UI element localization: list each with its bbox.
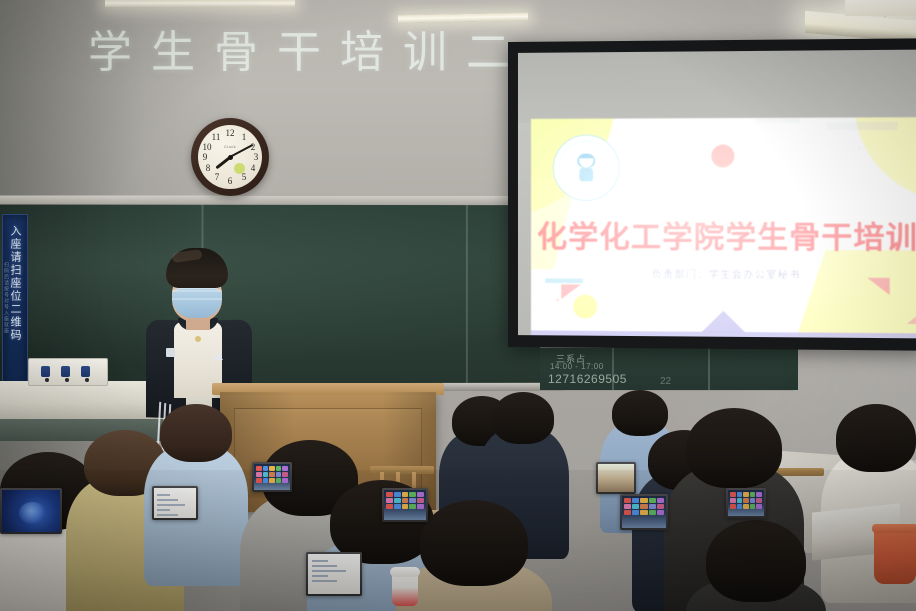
presenter-necklace <box>195 336 201 342</box>
foreground-shadow <box>0 470 916 611</box>
clock-numeral: 9 <box>199 153 211 162</box>
clock-numeral: 1 <box>238 133 250 142</box>
slide-title: 化学化工学院学生骨干培训二 <box>537 212 916 258</box>
seat-qr-banner-subtext: 扫码后请按号对号入座就座 <box>3 262 10 334</box>
logo-mascot-face <box>579 158 593 167</box>
slide-subtitle: 负责部门：学生会办公室秘书 <box>531 265 916 282</box>
slide-shape-plus: + <box>555 296 560 305</box>
slide-shape-pink-triangle <box>561 284 581 299</box>
slide-shape-red-dot <box>711 144 735 167</box>
control-indicator <box>85 378 89 382</box>
projection-screen-surface: + + + 化学化工学院学生骨干培训二 负责部门：学生会办公室秘书 <box>518 50 916 339</box>
projection-screen: + + + 化学化工学院学生骨干培训二 负责部门：学生会办公室秘书 <box>508 38 916 350</box>
college-logo-icon <box>553 135 620 201</box>
clock-brand-text: Clock <box>224 144 236 149</box>
jacket-patch-icon <box>166 348 175 357</box>
clock-numeral: 11 <box>210 133 222 142</box>
slide-shape-plus: + <box>856 144 863 155</box>
clock-numeral: 7 <box>211 173 223 182</box>
podium-control-panel <box>28 358 108 386</box>
chalk-note-time: 14:00 - 17:00 <box>550 362 604 371</box>
control-knob[interactable] <box>81 366 90 377</box>
screen-upper-blank-area <box>518 50 916 123</box>
logo-mascot-icon <box>575 153 597 183</box>
ceiling-light-fixture <box>105 0 295 7</box>
audience-member-head <box>612 390 668 436</box>
ceiling-light-fixture <box>845 0 916 16</box>
jacket-brand-icon <box>213 352 223 360</box>
control-knob[interactable] <box>41 366 50 377</box>
logo-mascot-body <box>579 167 593 181</box>
wall-clock: 12 1 2 3 4 5 6 7 8 9 10 11 Clock <box>191 118 269 196</box>
audience-member-head <box>836 404 916 472</box>
chalk-note-phone: 12716269505 <box>548 372 627 386</box>
logo-mascot-head <box>577 153 595 167</box>
blackboard-chalk-title: 学生骨干培训二 <box>88 16 529 80</box>
face-mask-icon <box>172 288 222 318</box>
clock-numeral: 8 <box>202 164 214 173</box>
slide-shape-gray-bar <box>825 121 898 130</box>
clock-numeral: 10 <box>201 143 213 152</box>
clock-face: 12 1 2 3 4 5 6 7 8 9 10 11 Clock <box>198 125 262 189</box>
slide-shape-plus: + <box>764 291 769 300</box>
blackboard-panel-divider <box>466 205 468 383</box>
presentation-slide: + + + 化学化工学院学生骨干培训二 负责部门：学生会办公室秘书 <box>531 117 916 338</box>
slide-shape-purple-peak <box>701 310 746 333</box>
clock-numeral: 5 <box>238 173 250 182</box>
classroom-scene: 学生骨干培训二 三系占 14:00 - 17:00 12716269505 22… <box>0 0 916 611</box>
control-indicator <box>65 378 69 382</box>
clock-center-pin <box>228 155 233 160</box>
clock-numeral: 3 <box>250 153 262 162</box>
blackboard-lower-divider <box>708 348 710 390</box>
clock-numeral: 4 <box>247 164 259 173</box>
audience-member-head <box>160 404 232 462</box>
presenter-hair <box>166 248 228 288</box>
slide-shape-yellow-bottomright <box>796 250 916 338</box>
control-indicator <box>45 378 49 382</box>
slide-shape-pink-triangle <box>907 311 916 324</box>
audience-member-head <box>492 392 554 444</box>
clock-numeral: 12 <box>224 129 236 138</box>
clock-numeral: 6 <box>224 177 236 186</box>
slide-shape-gray-bar <box>755 117 800 124</box>
chalk-note-misc: 22 <box>660 376 671 387</box>
control-knob[interactable] <box>61 366 70 377</box>
